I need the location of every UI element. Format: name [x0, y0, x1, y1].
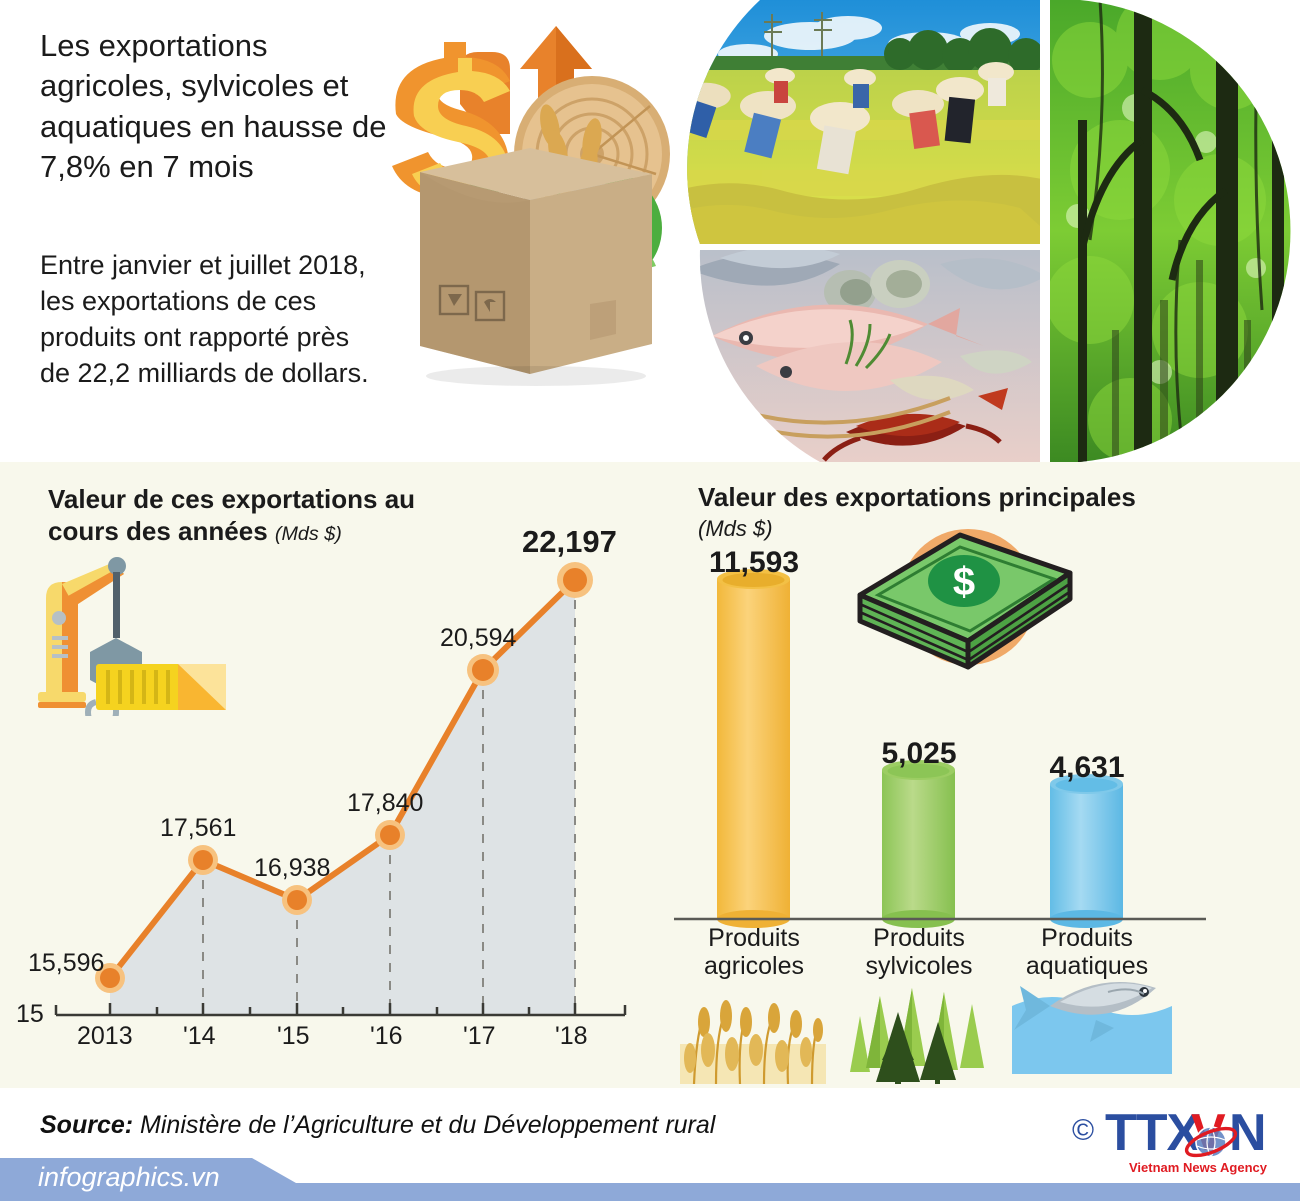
- header-band: Les exportations agricoles, sylvicoles e…: [0, 0, 1300, 462]
- site-label: infographics.vn: [38, 1162, 220, 1193]
- forest-photo: [1040, 0, 1300, 462]
- seafood-photo: [680, 244, 1060, 462]
- page-title: Les exportations agricoles, sylvicoles e…: [40, 26, 400, 187]
- bar-value-sylvicoles: 5,025: [849, 737, 989, 771]
- page-subtitle: Entre janvier et juillet 2018, les expor…: [40, 248, 380, 392]
- bar-category-sylvicoles-line1: Produits: [839, 924, 999, 952]
- export-box-illustration: [360, 14, 680, 394]
- bar-produits-sylvicoles: [882, 760, 955, 928]
- source-text: Ministère de l’Agriculture et du Dévelop…: [140, 1111, 715, 1139]
- x-tick-2016: '16: [370, 1022, 403, 1051]
- x-tick-2013: 2013: [77, 1022, 133, 1051]
- copyright-icon: ©: [1072, 1114, 1094, 1148]
- bar-value-agricoles: 11,593: [684, 546, 824, 580]
- fish-water-icon: [1012, 962, 1172, 1079]
- x-tick-2018: '18: [555, 1022, 588, 1051]
- line-chart-panel: Valeur de ces exportations au cours des …: [0, 462, 660, 1088]
- x-tick-2015: '15: [277, 1022, 310, 1051]
- forest-trees-icon: [846, 982, 996, 1089]
- source-label: Source:: [40, 1111, 133, 1139]
- bar-chart-panel: Valeur des exportations principales (Mds…: [660, 462, 1300, 1088]
- point-label-2017: 20,594: [440, 624, 516, 653]
- bar-category-sylvicoles-line2: sylvicoles: [839, 952, 999, 980]
- point-label-2016: 17,840: [347, 789, 423, 818]
- bar-category-agricoles-line1: Produits: [674, 924, 834, 952]
- bar-category-aquatiques-line1: Produits: [1007, 924, 1167, 952]
- bar-category-agricoles: Produits agricoles: [674, 924, 834, 980]
- point-label-2014: 17,561: [160, 814, 236, 843]
- y-axis-min-label: 15: [16, 1000, 44, 1029]
- bar-category-agricoles-line2: agricoles: [674, 952, 834, 980]
- wheat-icon: [678, 992, 828, 1089]
- point-label-2018: 22,197: [522, 524, 617, 560]
- x-tick-2017: '17: [463, 1022, 496, 1051]
- photo-collage: [660, 0, 1300, 462]
- point-label-2013: 15,596: [28, 949, 104, 978]
- cardboard-box: [420, 148, 652, 374]
- bar-produits-agricoles: [717, 569, 790, 928]
- bar-category-sylvicoles: Produits sylvicoles: [839, 924, 999, 980]
- infographic-page: Les exportations agricoles, sylvicoles e…: [0, 0, 1300, 1201]
- source-line: Source: Ministère de l’Agriculture et du…: [40, 1111, 715, 1140]
- rice-harvest-photo: [660, 0, 1060, 244]
- bar-value-aquatiques: 4,631: [1017, 751, 1157, 785]
- footer: Source: Ministère de l’Agriculture et du…: [0, 1088, 1300, 1201]
- bar-produits-aquatiques: [1050, 774, 1123, 928]
- point-label-2015: 16,938: [254, 854, 330, 883]
- x-tick-2014: '14: [183, 1022, 216, 1051]
